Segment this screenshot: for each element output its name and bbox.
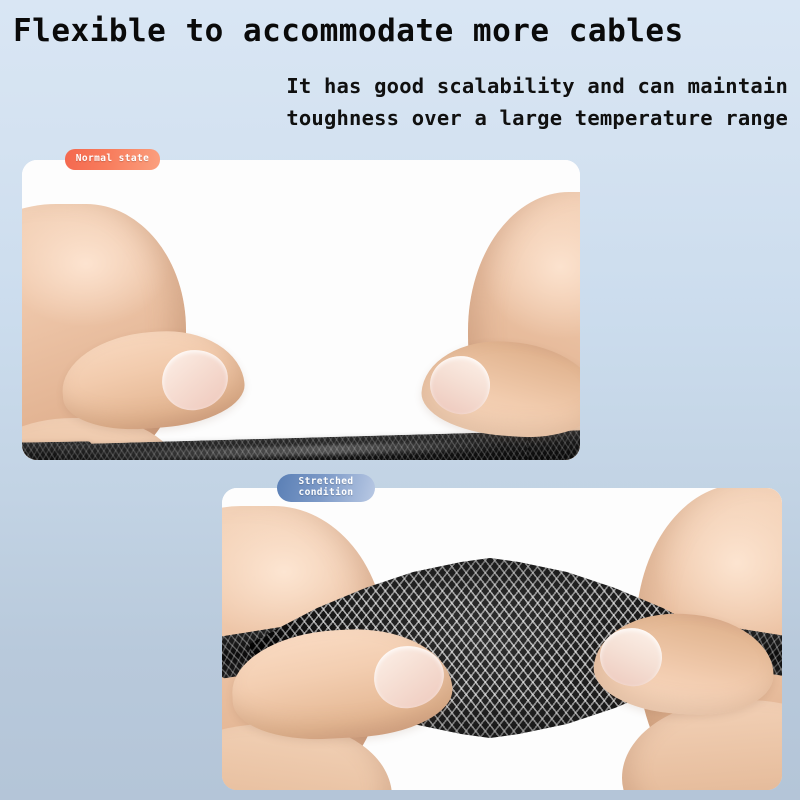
stretched-condition-badge: Stretched condition — [277, 474, 375, 502]
normal-state-photo-card — [22, 160, 580, 460]
normal-state-photo — [22, 160, 580, 460]
stretched-condition-photo-card — [222, 488, 782, 790]
normal-state-badge-label: Normal state — [76, 154, 149, 165]
page-title: Flexible to accommodate more cables — [13, 14, 713, 48]
stretched-condition-badge-label-line-2: condition — [298, 488, 353, 499]
stretched-condition-photo — [222, 488, 782, 790]
product-feature-graphic: Flexible to accommodate more cables It h… — [0, 0, 800, 800]
page-subtitle-line-1: It has good scalability and can maintain — [88, 71, 788, 103]
page-subtitle: It has good scalability and can maintain… — [88, 71, 788, 135]
page-subtitle-line-2: toughness over a large temperature range — [88, 103, 788, 135]
normal-state-badge: Normal state — [65, 149, 160, 170]
